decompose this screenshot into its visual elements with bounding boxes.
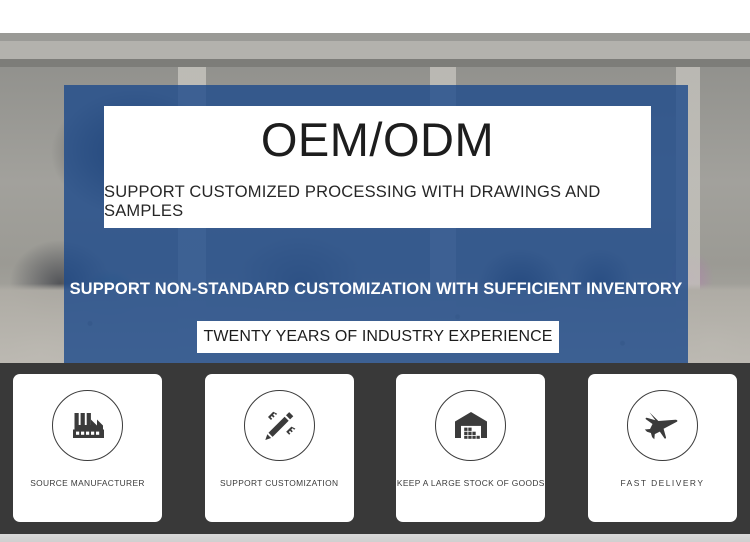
bottom-section-sliver [0,534,750,542]
hero-band-line: SUPPORT NON-STANDARD CUSTOMIZATION WITH … [64,280,688,299]
hero-experience-pill: TWENTY YEARS OF INDUSTRY EXPERIENCE [197,321,559,353]
hero-headline: OEM/ODM [261,116,494,163]
icon-ring [52,390,123,461]
hero-white-block: OEM/ODM SUPPORT CUSTOMIZED PROCESSING WI… [104,106,651,228]
feature-card-label: SUPPORT CUSTOMIZATION [220,478,338,488]
feature-card-label: FAST DELIVERY [621,478,705,488]
feature-card-label: SOURCE MANUFACTURER [30,478,145,488]
feature-card-large-stock[interactable]: KEEP A LARGE STOCK OF GOODS [396,374,545,522]
feature-card-list: SOURCE MANUFACTURER SUPPORT CUSTOMIZ [0,374,750,522]
airplane-icon [642,406,682,446]
icon-ring [627,390,698,461]
icon-ring [244,390,315,461]
feature-card-label: KEEP A LARGE STOCK OF GOODS [397,478,545,488]
pencil-ruler-icon [259,406,299,446]
top-white-gap [0,0,750,33]
hero-blue-overlay: OEM/ODM SUPPORT CUSTOMIZED PROCESSING WI… [64,85,688,363]
feature-strip: SOURCE MANUFACTURER SUPPORT CUSTOMIZ [0,363,750,534]
feature-card-support-customization[interactable]: SUPPORT CUSTOMIZATION [205,374,354,522]
hero-banner: OEM/ODM SUPPORT CUSTOMIZED PROCESSING WI… [0,33,750,363]
icon-ring [435,390,506,461]
feature-card-fast-delivery[interactable]: FAST DELIVERY [588,374,737,522]
hero-subline: SUPPORT CUSTOMIZED PROCESSING WITH DRAWI… [104,183,651,221]
page-root: OEM/ODM SUPPORT CUSTOMIZED PROCESSING WI… [0,0,750,542]
factory-icon [68,406,108,446]
warehouse-icon [451,406,491,446]
feature-card-source-manufacturer[interactable]: SOURCE MANUFACTURER [13,374,162,522]
hero-content: OEM/ODM SUPPORT CUSTOMIZED PROCESSING WI… [64,85,688,363]
